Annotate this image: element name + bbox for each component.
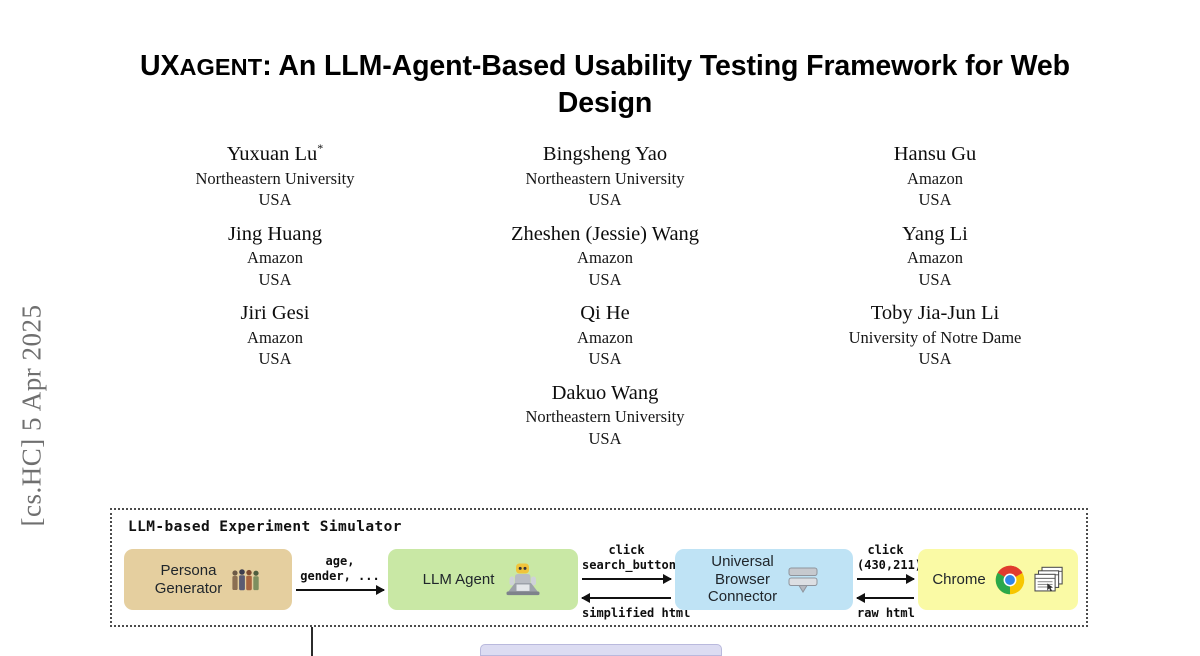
arxiv-sidebar-stamp: [cs.HC] 5 Apr 2025 — [17, 206, 48, 626]
author-entry: Jiri Gesi Amazon USA — [110, 300, 440, 370]
author-affiliation: University of Notre Dame — [770, 327, 1100, 348]
author-entry: Yang Li Amazon USA — [770, 221, 1100, 291]
author-row: Yuxuan Lu* Northeastern University USA B… — [110, 141, 1100, 211]
arrow-chrome-label-bottom: raw html — [857, 606, 914, 621]
arrow-agent-line-forward — [582, 573, 671, 585]
author-country: USA — [770, 348, 1100, 369]
node-llm-agent[interactable]: LLM Agent — [388, 549, 578, 610]
author-entry: Yuxuan Lu* Northeastern University USA — [110, 141, 440, 211]
simulator-title: LLM-based Experiment Simulator — [128, 519, 402, 535]
connector-icon — [786, 565, 820, 595]
author-name: Zheshen (Jessie) Wang — [440, 221, 770, 248]
author-name: Yang Li — [770, 221, 1100, 248]
author-name: Jing Huang — [110, 221, 440, 248]
author-affiliation: Amazon — [440, 247, 770, 268]
author-entry: Zheshen (Jessie) Wang Amazon USA — [440, 221, 770, 291]
node-ubc-label-line3: Connector — [708, 588, 777, 606]
arrow-persona-to-agent: age, gender, ... — [296, 554, 384, 596]
author-affiliation: Amazon — [440, 327, 770, 348]
node-persona-label-line2: Generator — [155, 580, 223, 598]
author-row: Jing Huang Amazon USA Zheshen (Jessie) W… — [110, 221, 1100, 291]
arrow-agent-label-top: click — [582, 543, 671, 558]
arrow-persona-label-top: age, — [296, 554, 384, 569]
arrow-agent-label-top2: search_button — [582, 558, 671, 573]
author-country: USA — [440, 189, 770, 210]
author-affiliation: Amazon — [770, 168, 1100, 189]
author-entry: Hansu Gu Amazon USA — [770, 141, 1100, 211]
node-chrome[interactable]: Chrome — [918, 549, 1078, 610]
arrow-agent-label-bottom: simplified html — [582, 606, 671, 621]
arrow-chrome-label-top2: (430,211) — [857, 558, 914, 573]
author-marker: * — [317, 141, 323, 155]
author-name: Hansu Gu — [770, 141, 1100, 168]
node-ubc-label: Universal Browser Connector — [708, 553, 777, 606]
node-agent-label: LLM Agent — [423, 571, 495, 589]
arrow-persona-line — [296, 584, 384, 596]
node-persona-generator[interactable]: Persona Generator — [124, 549, 292, 610]
author-country: USA — [770, 269, 1100, 290]
author-affiliation: Amazon — [770, 247, 1100, 268]
author-name: Dakuo Wang — [440, 380, 770, 407]
author-country: USA — [110, 189, 440, 210]
author-affiliation: Northeastern University — [110, 168, 440, 189]
arrow-chrome-line-back — [857, 592, 914, 604]
author-country: USA — [110, 269, 440, 290]
node-persona-label: Persona Generator — [155, 562, 223, 597]
node-ubc-label-line1: Universal — [708, 553, 777, 571]
author-affiliation: Northeastern University — [440, 406, 770, 427]
author-affiliation: Amazon — [110, 327, 440, 348]
author-entry: Qi He Amazon USA — [440, 300, 770, 370]
author-country: USA — [440, 348, 770, 369]
figure-connector-line — [311, 627, 313, 656]
author-name: Toby Jia-Jun Li — [770, 300, 1100, 327]
page-title: UXAGENT: An LLM-Agent-Based Usability Te… — [110, 0, 1100, 122]
author-country: USA — [770, 189, 1100, 210]
author-country: USA — [440, 269, 770, 290]
arrow-agent-line-back — [582, 592, 671, 604]
author-block: Yuxuan Lu* Northeastern University USA B… — [110, 141, 1100, 449]
chrome-logo-icon — [995, 565, 1025, 595]
author-country: USA — [110, 348, 440, 369]
browser-windows-icon — [1034, 566, 1064, 594]
node-chrome-label: Chrome — [932, 571, 985, 589]
node-universal-browser-connector[interactable]: Universal Browser Connector — [675, 549, 853, 610]
system-architecture-figure: LLM-based Experiment Simulator Persona G… — [110, 508, 1090, 648]
arrow-chrome-label-top: click — [857, 543, 914, 558]
author-name: Jiri Gesi — [110, 300, 440, 327]
node-ubc-label-line2: Browser — [708, 571, 777, 589]
author-affiliation: Amazon — [110, 247, 440, 268]
arrow-ubc-to-chrome: click (430,211) raw html — [857, 543, 914, 621]
author-affiliation: Northeastern University — [440, 168, 770, 189]
author-name: Qi He — [440, 300, 770, 327]
node-persona-label-line1: Persona — [155, 562, 223, 580]
author-entry: Jing Huang Amazon USA — [110, 221, 440, 291]
author-name: Yuxuan Lu* — [110, 141, 440, 168]
arrow-persona-label-bottom: gender, ... — [296, 569, 384, 584]
robot-laptop-icon — [503, 562, 543, 598]
author-entry: Dakuo Wang Northeastern University USA — [440, 380, 770, 450]
author-name: Bingsheng Yao — [440, 141, 770, 168]
lower-module-partial — [480, 644, 722, 656]
people-group-icon — [231, 567, 261, 593]
author-country: USA — [440, 428, 770, 449]
author-row: Jiri Gesi Amazon USA Qi He Amazon USA To… — [110, 300, 1100, 370]
arrow-agent-to-ubc: click search_button simplified html — [582, 543, 671, 621]
arrow-chrome-line-forward — [857, 573, 914, 585]
author-row: Dakuo Wang Northeastern University USA — [110, 380, 1100, 450]
author-entry: Bingsheng Yao Northeastern University US… — [440, 141, 770, 211]
author-entry: Toby Jia-Jun Li University of Notre Dame… — [770, 300, 1100, 370]
